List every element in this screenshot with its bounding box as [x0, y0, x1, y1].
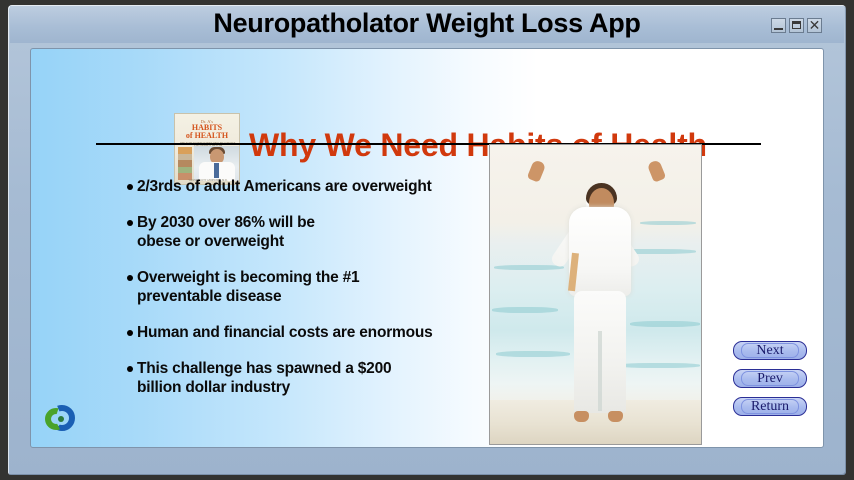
maximize-icon [792, 21, 801, 29]
bullet-text: 2/3rds of adult Americans are overweight [137, 177, 432, 196]
return-button[interactable]: Return [733, 397, 807, 416]
next-button-label: Next [756, 344, 783, 358]
doctor-tie [214, 163, 219, 178]
figure-leg-gap [598, 331, 602, 411]
return-button-label: Return [751, 400, 789, 414]
maximize-button[interactable] [789, 18, 804, 33]
bullet-icon [127, 366, 133, 372]
bullet-text: Human and financial costs are enormous [137, 323, 433, 342]
return-button-inner: Return [741, 399, 799, 414]
next-button-inner: Next [741, 343, 799, 358]
prev-button-inner: Prev [741, 371, 799, 386]
close-icon: ✕ [808, 17, 821, 34]
bullet-icon [127, 184, 133, 190]
list-item: By 2030 over 86% will be obese or overwe… [127, 213, 487, 251]
navigation-buttons: Next Prev Return [733, 341, 807, 416]
list-item: 2/3rds of adult Americans are overweight [127, 177, 487, 196]
logo-center-dot [58, 416, 64, 422]
book-cover-photo-strip [178, 147, 192, 180]
book-cover-title-line2: of HEALTH [175, 132, 239, 140]
list-item: Human and financial costs are enormous [127, 323, 487, 342]
figure-left-foot [574, 411, 589, 422]
beach-photo [489, 144, 702, 445]
title-bar[interactable]: Neuropatholator Weight Loss App ✕ [10, 6, 844, 43]
app-window: Neuropatholator Weight Loss App ✕ Dr. A'… [0, 0, 854, 480]
next-button[interactable]: Next [733, 341, 807, 360]
bullet-text: By 2030 over 86% will be obese or overwe… [137, 213, 315, 251]
book-cover-title: HABITS of HEALTH [175, 124, 239, 140]
close-button[interactable]: ✕ [807, 18, 822, 33]
bullet-icon [127, 220, 133, 226]
list-item: Overweight is becoming the #1 preventabl… [127, 268, 487, 306]
bullet-text: Overweight is becoming the #1 preventabl… [137, 268, 359, 306]
list-item: This challenge has spawned a $200 billio… [127, 359, 487, 397]
bullet-text: This challenge has spawned a $200 billio… [137, 359, 391, 397]
minimize-button[interactable] [771, 18, 786, 33]
figure-right-hand [647, 159, 667, 182]
prev-button[interactable]: Prev [733, 369, 807, 388]
bullet-list: 2/3rds of adult Americans are overweight… [127, 177, 487, 414]
book-cover-doctor-photo [194, 146, 239, 181]
app-logo-icon [45, 403, 77, 435]
figure-left-hand [527, 159, 547, 182]
photo-figure [490, 145, 702, 445]
slide-content: Dr. A's HABITS of HEALTH THE PATH TO PER… [30, 48, 824, 448]
book-cover-image: Dr. A's HABITS of HEALTH THE PATH TO PER… [174, 113, 240, 185]
figure-right-foot [608, 411, 623, 422]
bullet-icon [127, 330, 133, 336]
bullet-icon [127, 275, 133, 281]
window-controls: ✕ [771, 18, 822, 33]
figure-shirt [569, 207, 631, 296]
app-title: Neuropatholator Weight Loss App [10, 8, 844, 39]
prev-button-label: Prev [757, 372, 783, 386]
minimize-icon [774, 28, 783, 30]
